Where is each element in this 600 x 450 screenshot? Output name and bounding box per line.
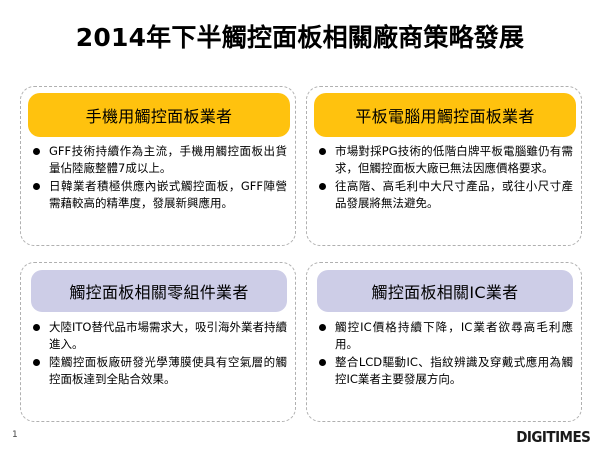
bullet-dot-icon [33, 324, 40, 331]
bullet-list-touch-panel-components: 大陸ITO替代品市場需求大，吸引海外業者持續進入。 陸觸控面板廠研發光學薄膜使具… [32, 319, 287, 389]
list-item-text: 大陸ITO替代品市場需求大，吸引海外業者持續進入。 [49, 320, 287, 351]
list-item-text: 市場對採PG技術的低階白牌平板電腦雖仍有需求，但觸控面板大廠已無法因應價格要求。 [335, 144, 573, 175]
list-item: 大陸ITO替代品市場需求大，吸引海外業者持續進入。 [32, 319, 287, 353]
page-title: 2014年下半觸控面板相關廠商策略發展 [0, 24, 600, 52]
list-item: 日韓業者積極供應內嵌式觸控面板，GFF陣營需藉較高的精準度，發展新興應用。 [32, 178, 287, 212]
card-header-tablet-touch-panel: 平板電腦用觸控面板業者 [314, 93, 576, 137]
card-touch-panel-components: 觸控面板相關零組件業者 大陸ITO替代品市場需求大，吸引海外業者持續進入。 陸觸… [20, 262, 296, 422]
list-item: GFF技術持續作為主流，手機用觸控面板出貨量佔陸廠整體7成以上。 [32, 143, 287, 177]
bullet-list-tablet-touch-panel: 市場對採PG技術的低階白牌平板電腦雖仍有需求，但觸控面板大廠已無法因應價格要求。… [318, 143, 573, 213]
card-header-touch-panel-components: 觸控面板相關零組件業者 [31, 270, 287, 312]
list-item-text: 日韓業者積極供應內嵌式觸控面板，GFF陣營需藉較高的精準度，發展新興應用。 [49, 179, 287, 210]
list-item-text: 觸控IC價格持續下降，IC業者欲尋高毛利應用。 [335, 320, 573, 351]
bullet-list-mobile-phone-touch-panel: GFF技術持續作為主流，手機用觸控面板出貨量佔陸廠整體7成以上。 日韓業者積極供… [32, 143, 287, 213]
bullet-dot-icon [33, 183, 40, 190]
bullet-dot-icon [319, 183, 326, 190]
list-item-text: 陸觸控面板廠研發光學薄膜使具有空氣層的觸控面板達到全貼合效果。 [49, 355, 287, 386]
bullet-list-touch-panel-ic: 觸控IC價格持續下降，IC業者欲尋高毛利應用。 整合LCD驅動IC、指紋辨識及穿… [318, 319, 573, 389]
list-item: 市場對採PG技術的低階白牌平板電腦雖仍有需求，但觸控面板大廠已無法因應價格要求。 [318, 143, 573, 177]
bullet-dot-icon [33, 148, 40, 155]
card-header-touch-panel-ic: 觸控面板相關IC業者 [317, 270, 573, 312]
bullet-dot-icon [319, 324, 326, 331]
bullet-dot-icon [319, 148, 326, 155]
card-mobile-phone-touch-panel: 手機用觸控面板業者 GFF技術持續作為主流，手機用觸控面板出貨量佔陸廠整體7成以… [20, 86, 296, 246]
card-grid: 手機用觸控面板業者 GFF技術持續作為主流，手機用觸控面板出貨量佔陸廠整體7成以… [20, 86, 582, 422]
list-item-text: GFF技術持續作為主流，手機用觸控面板出貨量佔陸廠整體7成以上。 [49, 144, 287, 175]
list-item: 觸控IC價格持續下降，IC業者欲尋高毛利應用。 [318, 319, 573, 353]
card-tablet-touch-panel: 平板電腦用觸控面板業者 市場對採PG技術的低階白牌平板電腦雖仍有需求，但觸控面板… [306, 86, 582, 246]
list-item: 陸觸控面板廠研發光學薄膜使具有空氣層的觸控面板達到全貼合效果。 [32, 354, 287, 388]
list-item-text: 整合LCD驅動IC、指紋辨識及穿戴式應用為觸控IC業者主要發展方向。 [335, 355, 573, 386]
list-item: 往高階、高毛利中大尺寸產品，或往小尺寸產品發展將無法避免。 [318, 178, 573, 212]
bullet-dot-icon [33, 359, 40, 366]
list-item-text: 往高階、高毛利中大尺寸產品，或往小尺寸產品發展將無法避免。 [335, 179, 573, 210]
page-number: 1 [12, 430, 18, 440]
bullet-dot-icon [319, 359, 326, 366]
list-item: 整合LCD驅動IC、指紋辨識及穿戴式應用為觸控IC業者主要發展方向。 [318, 354, 573, 388]
digitimes-logo: DIGITIMES [516, 428, 590, 446]
card-header-mobile-phone-touch-panel: 手機用觸控面板業者 [28, 93, 290, 137]
card-touch-panel-ic: 觸控面板相關IC業者 觸控IC價格持續下降，IC業者欲尋高毛利應用。 整合LCD… [306, 262, 582, 422]
